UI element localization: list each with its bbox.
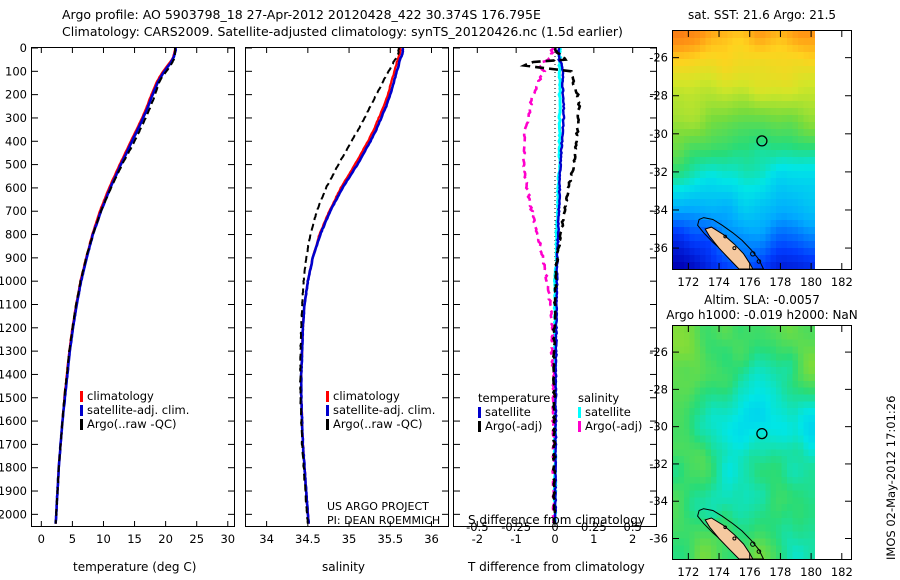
svg-text:100: 100 xyxy=(5,64,27,78)
svg-text:180: 180 xyxy=(800,565,822,579)
svg-text:1200: 1200 xyxy=(0,321,27,335)
svg-text:5: 5 xyxy=(69,532,76,546)
svg-text:200: 200 xyxy=(5,88,27,102)
svg-text:1900: 1900 xyxy=(0,484,27,498)
svg-text:-0.5: -0.5 xyxy=(466,520,488,534)
svg-text:1000: 1000 xyxy=(0,274,27,288)
svg-text:172: 172 xyxy=(677,565,699,579)
svg-text:1: 1 xyxy=(590,532,597,546)
svg-text:35: 35 xyxy=(342,532,357,546)
svg-text:2: 2 xyxy=(629,532,636,546)
svg-text:182: 182 xyxy=(831,275,853,289)
svg-text:0: 0 xyxy=(38,532,45,546)
svg-text:0: 0 xyxy=(551,532,558,546)
svg-text:20: 20 xyxy=(158,532,173,546)
svg-text:-34: -34 xyxy=(649,494,668,508)
svg-text:10: 10 xyxy=(96,532,111,546)
svg-text:1400: 1400 xyxy=(0,367,27,381)
svg-text:0: 0 xyxy=(551,520,558,534)
svg-text:300: 300 xyxy=(5,111,27,125)
svg-text:1100: 1100 xyxy=(0,297,27,311)
svg-text:-30: -30 xyxy=(649,127,668,141)
svg-text:0.25: 0.25 xyxy=(581,520,607,534)
svg-text:178: 178 xyxy=(769,565,791,579)
svg-text:174: 174 xyxy=(708,275,730,289)
svg-text:500: 500 xyxy=(5,158,27,172)
svg-text:1600: 1600 xyxy=(0,414,27,428)
svg-text:600: 600 xyxy=(5,181,27,195)
svg-text:2000: 2000 xyxy=(0,507,27,521)
svg-text:1800: 1800 xyxy=(0,461,27,475)
axis-overlay: 0100200300400500600700800900100011001200… xyxy=(0,0,900,580)
svg-text:-2: -2 xyxy=(472,532,483,546)
svg-text:34.5: 34.5 xyxy=(295,532,321,546)
svg-text:182: 182 xyxy=(831,565,853,579)
svg-text:176: 176 xyxy=(739,565,761,579)
svg-text:-28: -28 xyxy=(649,89,668,103)
svg-text:25: 25 xyxy=(189,532,204,546)
svg-text:0: 0 xyxy=(20,41,27,55)
svg-text:0.5: 0.5 xyxy=(624,520,642,534)
svg-text:-32: -32 xyxy=(649,457,668,471)
svg-text:-1: -1 xyxy=(510,532,521,546)
svg-text:-30: -30 xyxy=(649,420,668,434)
svg-text:35.5: 35.5 xyxy=(377,532,403,546)
svg-text:180: 180 xyxy=(800,275,822,289)
svg-text:700: 700 xyxy=(5,204,27,218)
svg-text:178: 178 xyxy=(769,275,791,289)
svg-text:400: 400 xyxy=(5,134,27,148)
svg-text:-0.25: -0.25 xyxy=(501,520,531,534)
svg-text:800: 800 xyxy=(5,228,27,242)
svg-text:-26: -26 xyxy=(649,345,668,359)
svg-text:-36: -36 xyxy=(649,531,668,545)
svg-text:1700: 1700 xyxy=(0,437,27,451)
svg-text:900: 900 xyxy=(5,251,27,265)
svg-text:-28: -28 xyxy=(649,382,668,396)
svg-text:1500: 1500 xyxy=(0,391,27,405)
svg-text:176: 176 xyxy=(739,275,761,289)
svg-text:-32: -32 xyxy=(649,165,668,179)
svg-text:15: 15 xyxy=(127,532,142,546)
svg-text:174: 174 xyxy=(708,565,730,579)
svg-text:-26: -26 xyxy=(649,51,668,65)
svg-text:36: 36 xyxy=(424,532,439,546)
svg-text:30: 30 xyxy=(220,532,235,546)
svg-text:-34: -34 xyxy=(649,203,668,217)
svg-text:172: 172 xyxy=(677,275,699,289)
svg-text:34: 34 xyxy=(259,532,274,546)
svg-text:-36: -36 xyxy=(649,241,668,255)
svg-text:1300: 1300 xyxy=(0,344,27,358)
